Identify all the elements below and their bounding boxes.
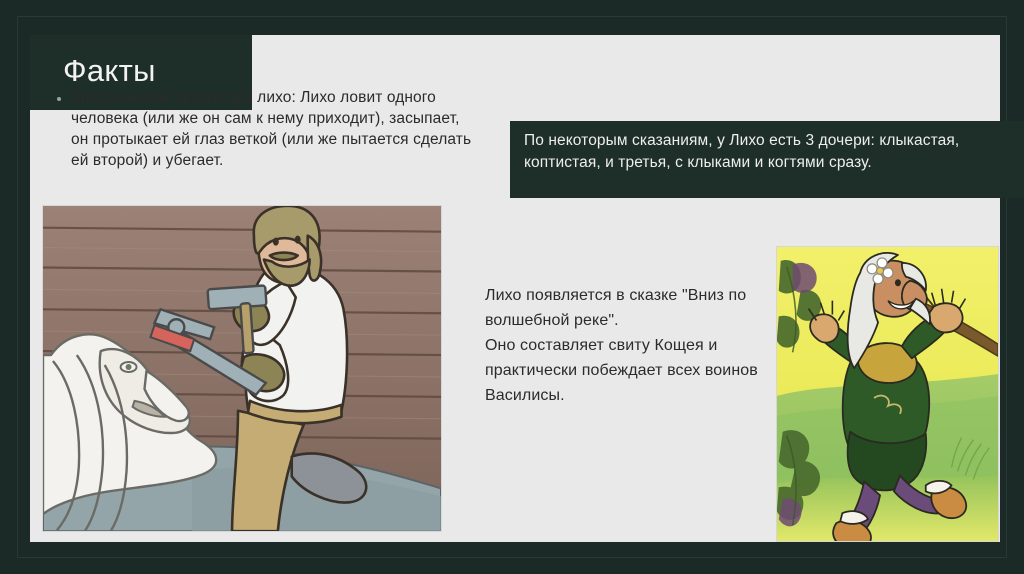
bullet-list-item: Классические сказки про лихо: Лихо ловит… xyxy=(57,87,477,171)
page-title: Факты xyxy=(63,53,156,89)
slide: Факты Классические сказки про лихо: Лихо… xyxy=(0,0,1024,574)
blacksmith-and-likho-illustration xyxy=(42,205,442,532)
content-panel: Факты Классические сказки про лихо: Лихо… xyxy=(30,35,1000,542)
blacksmith-art-svg xyxy=(43,206,441,531)
likho-watercolor-illustration xyxy=(776,246,999,542)
bullet-dot-icon xyxy=(57,97,61,101)
bullet-text: Классические сказки про лихо: Лихо ловит… xyxy=(71,87,477,171)
callout-text: По некоторым сказаниям, у Лихо есть 3 до… xyxy=(524,130,1016,174)
likho-watercolor-art-svg xyxy=(777,247,998,541)
middle-paragraph: Лихо появляется в сказке "Вниз по волшеб… xyxy=(485,283,785,408)
callout-box: По некоторым сказаниям, у Лихо есть 3 до… xyxy=(510,121,1024,198)
